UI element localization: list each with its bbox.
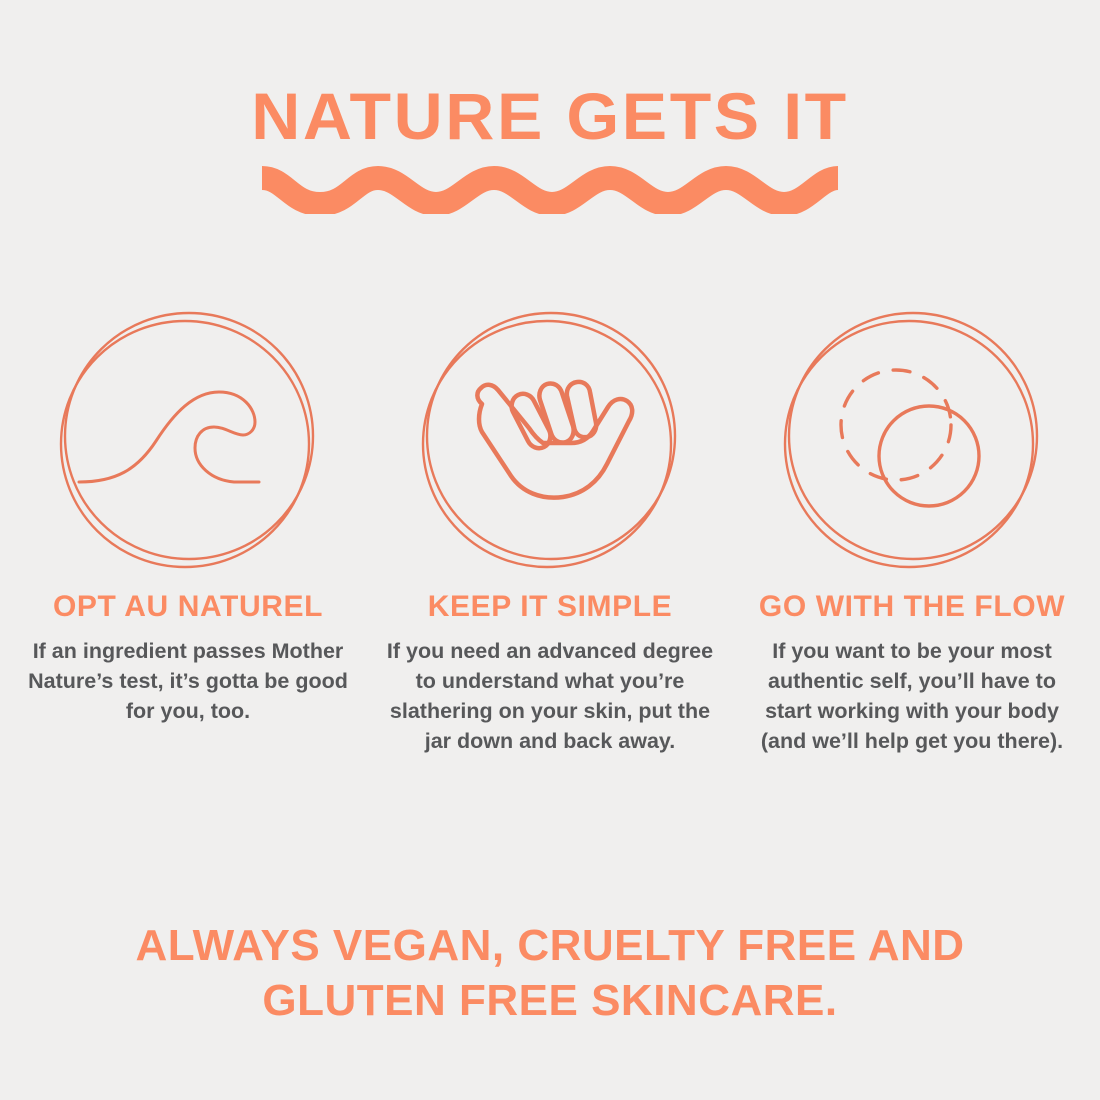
page-title: NATURE GETS IT bbox=[0, 84, 1100, 148]
wave-icon bbox=[59, 308, 317, 576]
feature-title: KEEP IT SIMPLE bbox=[428, 590, 673, 624]
feature-body: If you need an advanced degree to unders… bbox=[374, 636, 726, 756]
feature-column-keep-it-simple: KEEP IT SIMPLE If you need an advanced d… bbox=[374, 308, 726, 756]
feature-body: If an ingredient passes Mother Nature’s … bbox=[12, 636, 364, 726]
feature-title: GO WITH THE FLOW bbox=[759, 590, 1065, 624]
shaka-hand-icon bbox=[421, 308, 679, 576]
wavy-line-divider-icon bbox=[260, 162, 840, 214]
header: NATURE GETS IT bbox=[0, 84, 1100, 214]
feature-column-go-with-the-flow: GO WITH THE FLOW If you want to be your … bbox=[736, 308, 1088, 756]
dashed-circle bbox=[841, 370, 951, 480]
overlapping-circles-icon bbox=[783, 308, 1041, 576]
feature-title: OPT AU NATUREL bbox=[53, 590, 323, 624]
feature-columns: OPT AU NATUREL If an ingredient passes M… bbox=[0, 308, 1100, 756]
promo-panel: NATURE GETS IT OPT AU NATUREL If an ingr… bbox=[0, 0, 1100, 1100]
solid-circle bbox=[879, 406, 979, 506]
feature-column-opt-au-naturel: OPT AU NATUREL If an ingredient passes M… bbox=[12, 308, 364, 756]
feature-body: If you want to be your most authentic se… bbox=[736, 636, 1088, 756]
footer-tagline: ALWAYS VEGAN, CRUELTY FREE AND GLUTEN FR… bbox=[50, 918, 1050, 1028]
